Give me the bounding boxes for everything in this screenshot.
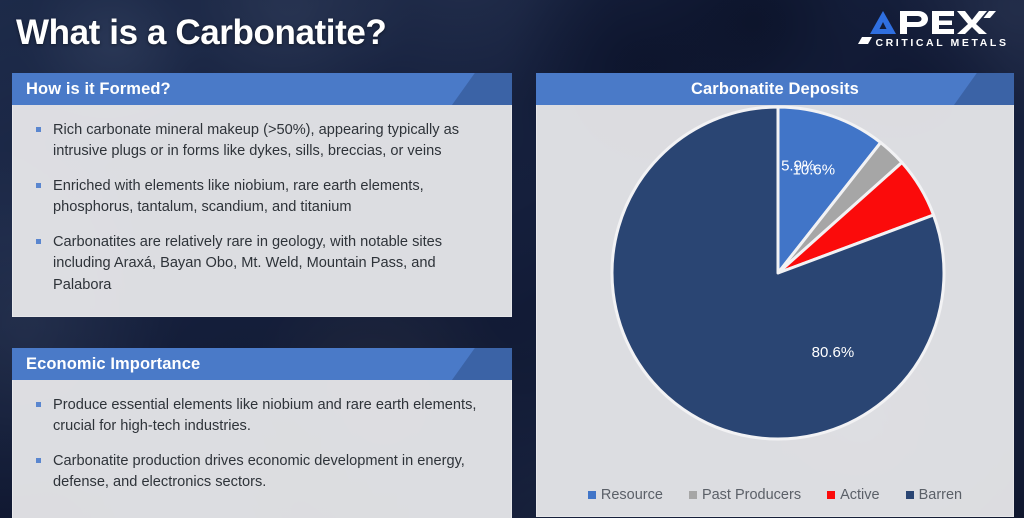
panel-economic-importance-header: Economic Importance xyxy=(12,348,512,380)
pie-chart: 10.6%2.8%5.9%80.6% xyxy=(537,105,1013,467)
list-item-text: Carbonatite production drives economic d… xyxy=(53,453,465,490)
bullet-square-icon xyxy=(36,183,41,188)
list-item: Rich carbonate mineral makeup (>50%), ap… xyxy=(29,120,489,163)
bullet-square-icon xyxy=(36,458,41,463)
legend-label: Past Producers xyxy=(702,487,801,503)
bullet-square-icon xyxy=(36,127,41,132)
header-notch-accent xyxy=(452,73,512,105)
chart-panel-title: Carbonatite Deposits xyxy=(536,80,1014,99)
legend-item-resource[interactable]: Resource xyxy=(588,487,663,503)
chart-legend: ResourcePast ProducersActiveBarren xyxy=(536,487,1014,503)
legend-item-past-producers[interactable]: Past Producers xyxy=(689,487,801,503)
legend-label: Barren xyxy=(919,487,963,503)
legend-label: Active xyxy=(840,487,880,503)
pie-chart-svg: 10.6%2.8%5.9%80.6% xyxy=(537,105,1015,467)
panel-economic-importance-body: Produce essential elements like niobium … xyxy=(12,380,512,518)
chart-panel-header: Carbonatite Deposits xyxy=(536,73,1014,105)
list-item: Enriched with elements like niobium, rar… xyxy=(29,176,489,219)
legend-swatch-icon xyxy=(689,491,697,499)
panel-economic-importance: Economic Importance Produce essential el… xyxy=(12,348,512,518)
panel-how-formed-title: How is it Formed? xyxy=(12,80,171,99)
list-item-text: Enriched with elements like niobium, rar… xyxy=(53,178,424,215)
legend-swatch-icon xyxy=(906,491,914,499)
panel-carbonatite-deposits: Carbonatite Deposits 10.6%2.8%5.9%80.6% … xyxy=(536,73,1014,517)
economic-importance-bullet-list: Produce essential elements like niobium … xyxy=(13,380,511,508)
chart-panel-body: 10.6%2.8%5.9%80.6% ResourcePast Producer… xyxy=(536,105,1014,517)
bullet-square-icon xyxy=(36,402,41,407)
list-item-text: Produce essential elements like niobium … xyxy=(53,397,476,434)
header-notch-accent xyxy=(452,348,512,380)
bullet-square-icon xyxy=(36,239,41,244)
page-title: What is a Carbonatite? xyxy=(16,14,386,53)
list-item-text: Rich carbonate mineral makeup (>50%), ap… xyxy=(53,122,459,159)
list-item-text: Carbonatites are relatively rare in geol… xyxy=(53,234,442,293)
legend-item-barren[interactable]: Barren xyxy=(906,487,963,503)
how-formed-bullet-list: Rich carbonate mineral makeup (>50%), ap… xyxy=(13,105,511,310)
slide: What is a Carbonatite? CRITICAL METALS H… xyxy=(0,0,1024,518)
panel-how-formed-body: Rich carbonate mineral makeup (>50%), ap… xyxy=(12,105,512,317)
legend-item-active[interactable]: Active xyxy=(827,487,880,503)
pie-label-barren: 80.6% xyxy=(812,344,855,361)
legend-swatch-icon xyxy=(588,491,596,499)
legend-label: Resource xyxy=(601,487,663,503)
list-item: Carbonatites are relatively rare in geol… xyxy=(29,232,489,296)
apex-critical-metals-logo: CRITICAL METALS xyxy=(850,6,1010,52)
panel-how-formed: How is it Formed? Rich carbonate mineral… xyxy=(12,73,512,317)
legend-swatch-icon xyxy=(827,491,835,499)
logo-tagline: CRITICAL METALS xyxy=(875,37,1008,49)
panel-economic-importance-title: Economic Importance xyxy=(12,355,200,374)
panel-how-formed-header: How is it Formed? xyxy=(12,73,512,105)
pie-label-active: 5.9% xyxy=(781,157,815,174)
list-item: Carbonatite production drives economic d… xyxy=(29,451,489,494)
list-item: Produce essential elements like niobium … xyxy=(29,395,489,438)
